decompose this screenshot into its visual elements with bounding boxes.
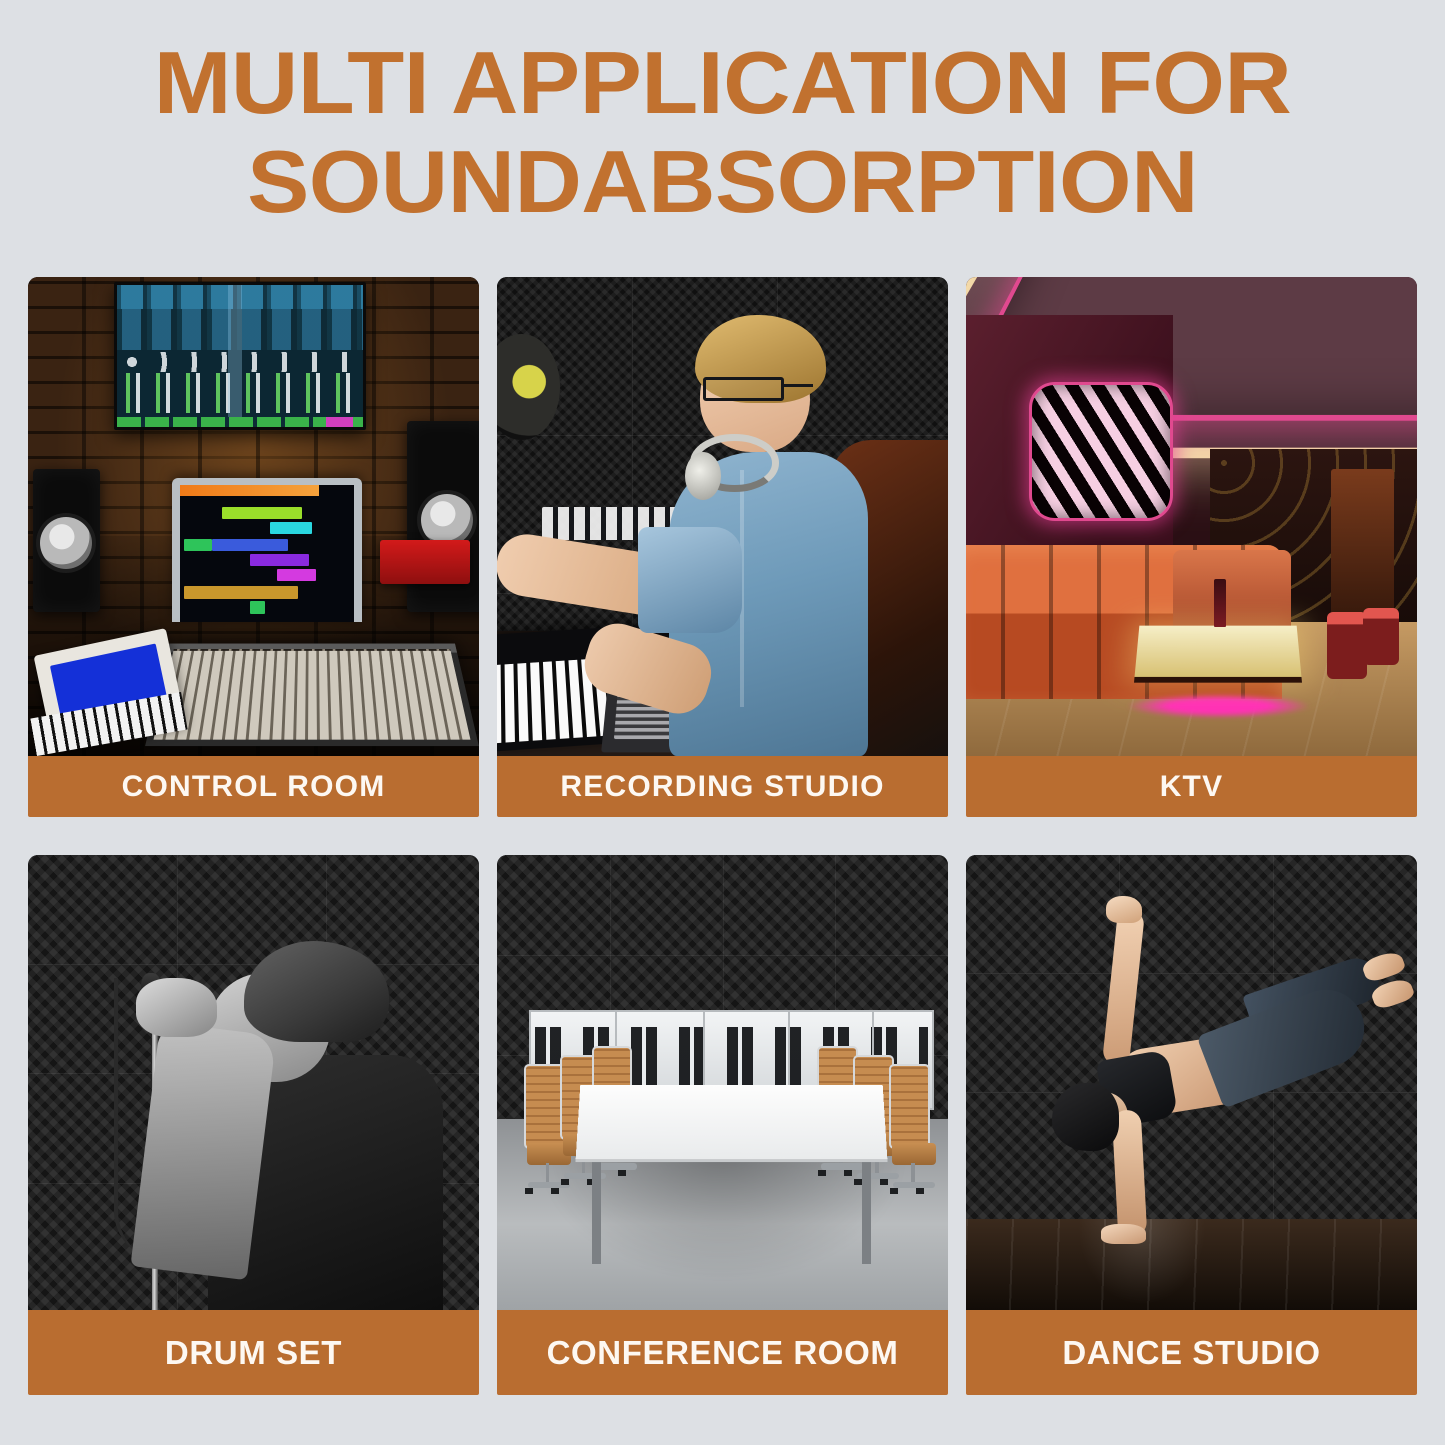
low-table [1135,626,1302,678]
person-dancer [966,855,1417,1310]
application-card-conference-room[interactable]: CONFERENCE ROOM [497,855,948,1395]
audio-interface [380,540,470,583]
caption-control-room: CONTROL ROOM [28,756,479,817]
stool-two [1363,608,1399,665]
title-line-2: SOUNDABSORPTION [8,133,1438,232]
mixer-display-screen [114,282,367,430]
mixing-console [145,644,479,747]
eyeglasses [703,377,784,401]
caption-recording-studio: RECORDING STUDIO [497,756,948,817]
photo-control-room [28,277,479,756]
application-card-drum-set[interactable]: DRUM SET [28,855,479,1395]
leather-sofa-back [1173,550,1290,627]
photo-conference-room [497,855,948,1310]
caption-ktv: KTV [966,756,1417,817]
application-card-ktv[interactable]: KTV [966,277,1417,817]
photo-recording-studio [497,277,948,756]
computer-monitor [172,478,361,622]
poster-root: MULTI APPLICATION FOR SOUNDABSORPTION [0,0,1445,1445]
photo-dance-studio [966,855,1417,1310]
stool-one [1327,612,1368,679]
page-title: MULTI APPLICATION FOR SOUNDABSORPTION [0,34,1445,231]
illuminated-wall-panel [1029,382,1173,521]
table-underglow [1128,694,1308,718]
title-line-1: MULTI APPLICATION FOR [8,34,1438,133]
application-card-dance-studio[interactable]: DANCE STUDIO [966,855,1417,1395]
caption-drum-set: DRUM SET [28,1310,479,1395]
application-card-control-room[interactable]: CONTROL ROOM [28,277,479,817]
conference-table [576,1085,887,1159]
application-card-recording-studio[interactable]: RECORDING STUDIO [497,277,948,817]
caption-dance-studio: DANCE STUDIO [966,1310,1417,1395]
photo-drum-set [28,855,479,1310]
photo-ktv [966,277,1417,756]
person-producer [632,315,894,756]
person-singer [28,855,479,1310]
wine-bottle [1214,579,1226,627]
studio-monitor-left [33,469,101,613]
caption-conference-room: CONFERENCE ROOM [497,1310,948,1395]
office-chair [889,1064,939,1201]
application-grid: CONTROL ROOM [28,277,1417,1395]
